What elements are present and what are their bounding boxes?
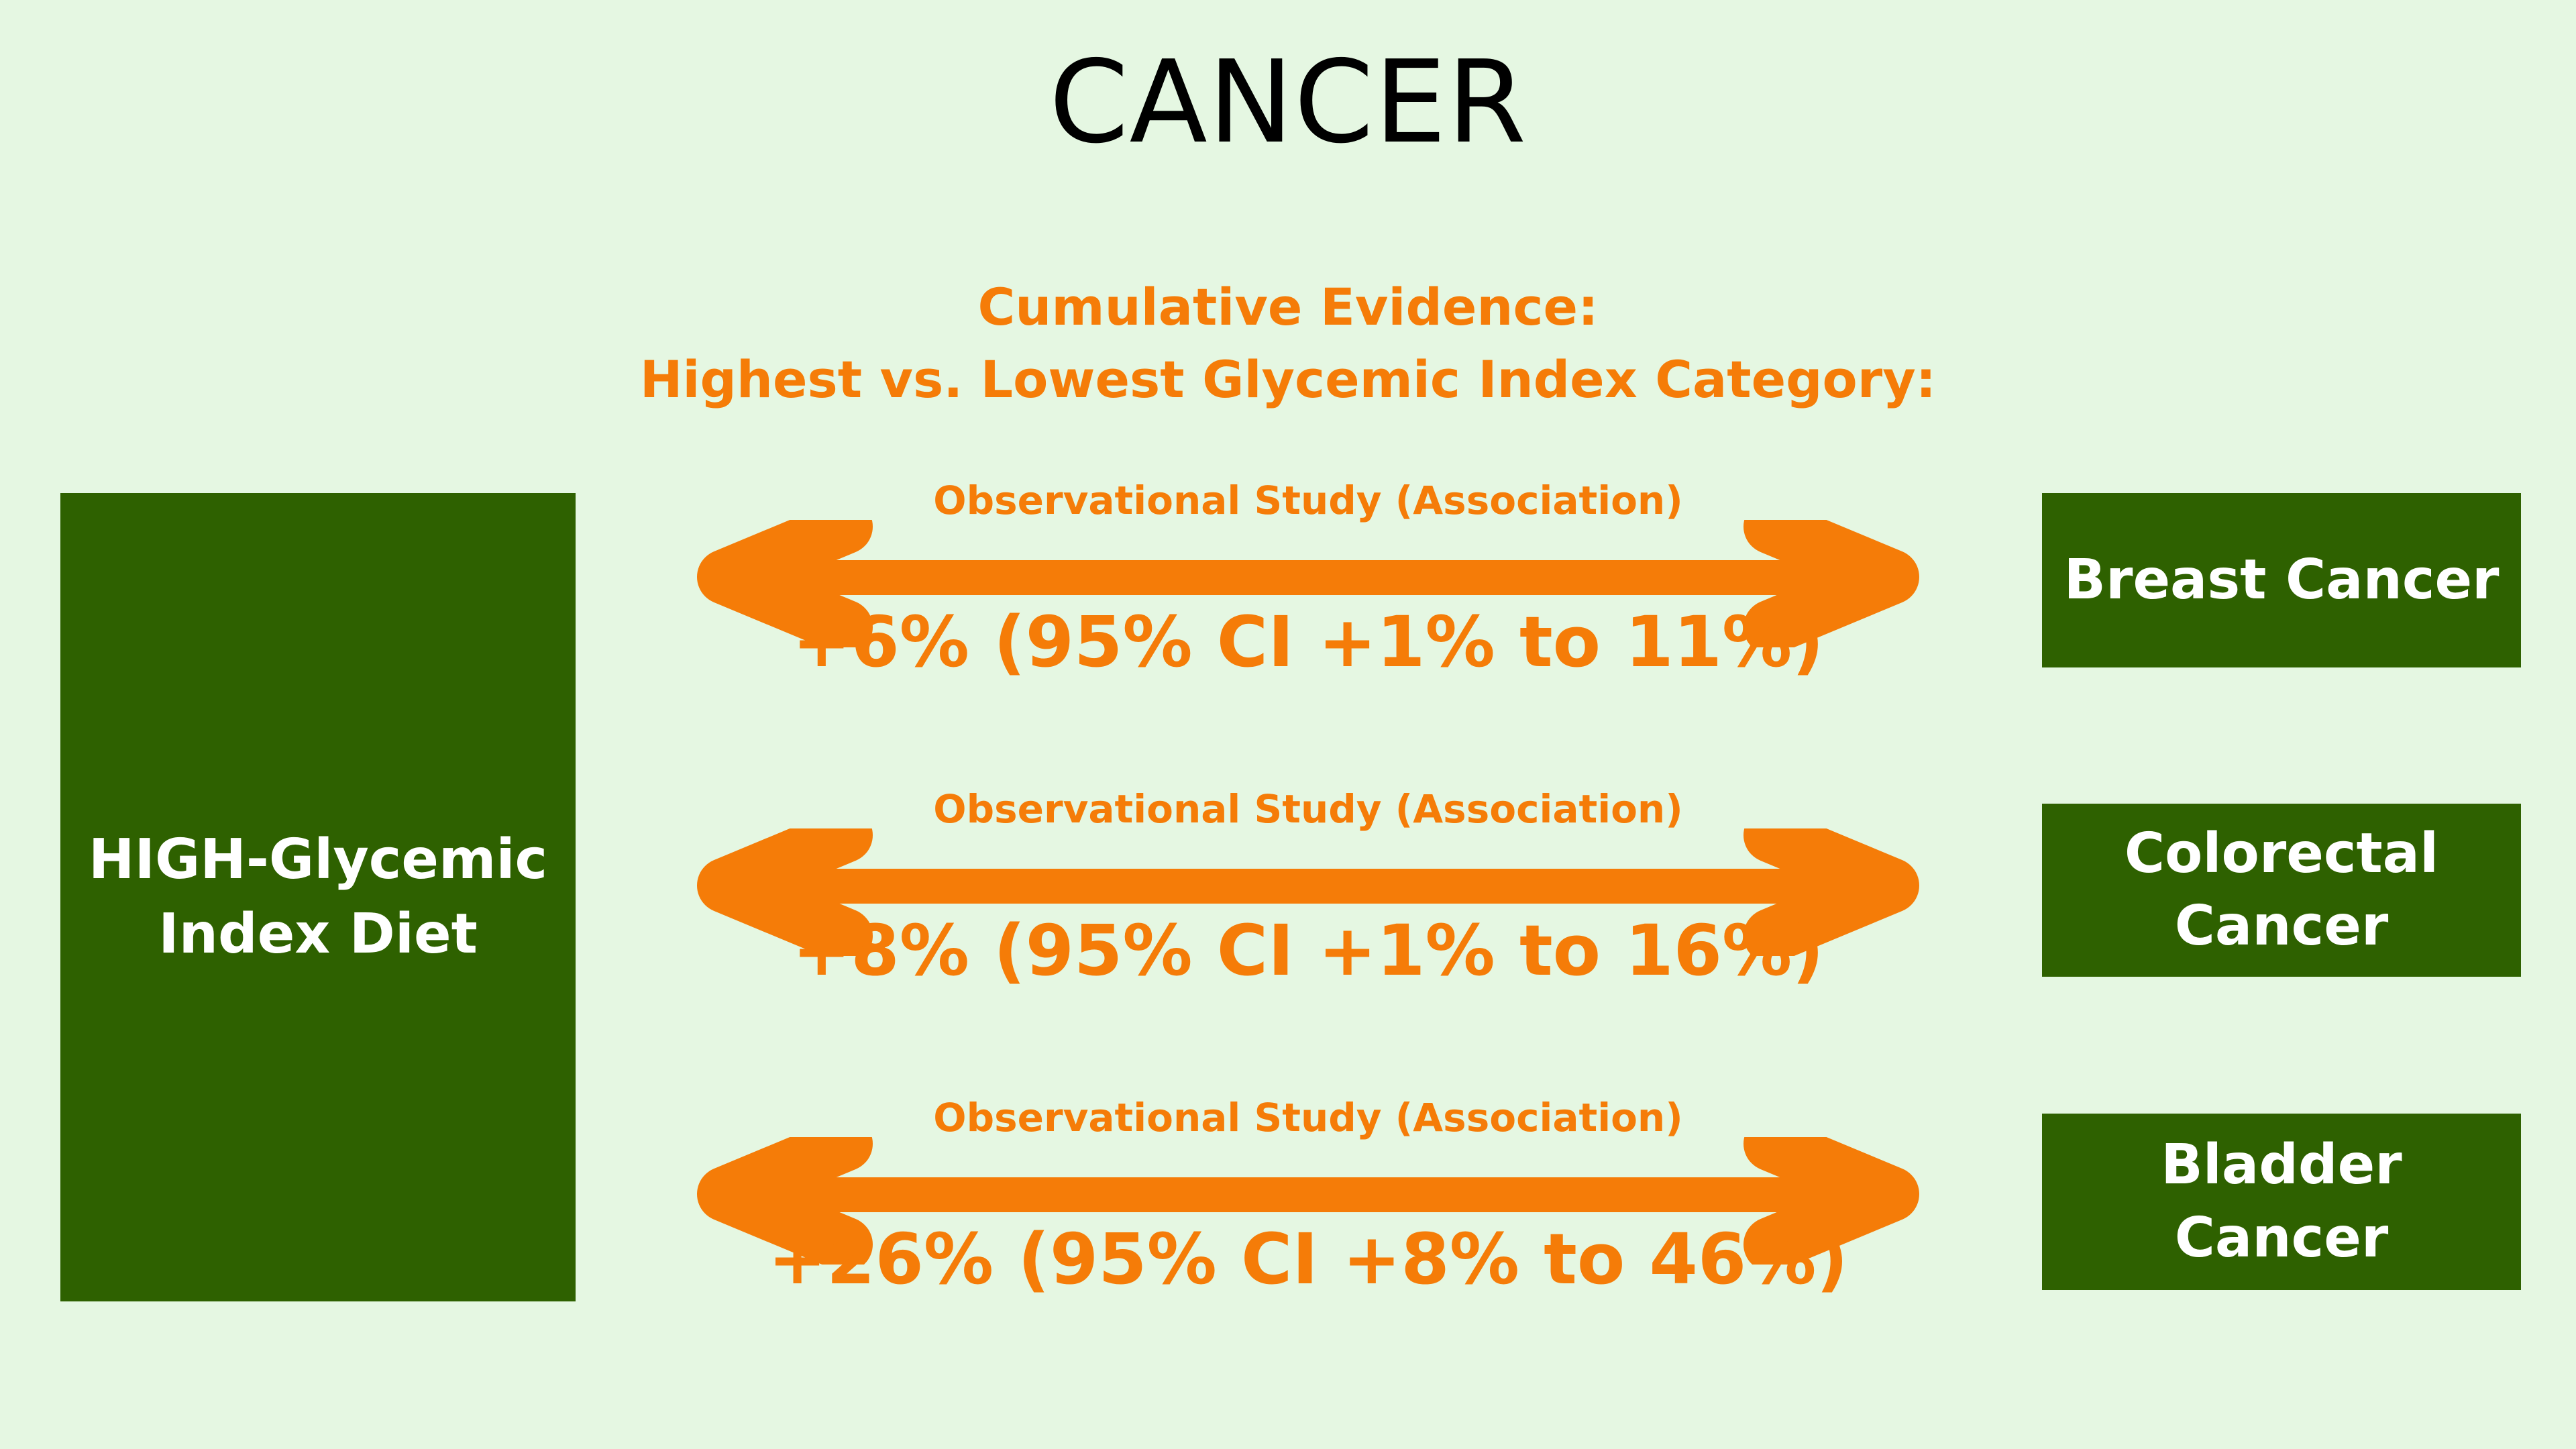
association-row-breast: Observational Study (Association) +6% (9… (644, 480, 1972, 681)
effect-estimate-label: +6% (95% CI +1% to 11%) (604, 604, 2012, 680)
study-type-label: Observational Study (Association) (644, 788, 1972, 831)
exposure-label-line-1: HIGH-Glycemic (89, 828, 547, 892)
page-title: CANCER (0, 42, 2576, 165)
outcome-label-line-1: Breast Cancer (2064, 548, 2500, 612)
association-row-colorectal: Observational Study (Association) +8% (9… (644, 788, 1972, 989)
outcome-box-bladder-cancer: Bladder Cancer (2042, 1114, 2521, 1290)
outcome-box-breast-cancer: Breast Cancer (2042, 493, 2521, 667)
association-row-bladder: Observational Study (Association) +26% (… (644, 1097, 1972, 1298)
study-type-label: Observational Study (Association) (644, 480, 1972, 523)
outcome-label-line-2: Cancer (2175, 1206, 2389, 1270)
study-type-label: Observational Study (Association) (644, 1097, 1972, 1140)
outcome-label-line-2: Cancer (2175, 894, 2389, 958)
outcome-box-label: Colorectal Cancer (2125, 818, 2438, 963)
subtitle-line-2: Highest vs. Lowest Glycemic Index Catego… (0, 343, 2576, 416)
effect-estimate-label: +8% (95% CI +1% to 16%) (604, 912, 2012, 989)
infographic-canvas: CANCER Cumulative Evidence: Highest vs. … (0, 0, 2576, 1449)
outcome-label-line-1: Bladder (2161, 1133, 2402, 1197)
effect-estimate-label: +26% (95% CI +8% to 46%) (604, 1221, 2012, 1297)
subtitle-line-1: Cumulative Evidence: (0, 271, 2576, 343)
exposure-label-line-2: Index Diet (158, 902, 478, 966)
outcome-box-colorectal-cancer: Colorectal Cancer (2042, 804, 2521, 977)
subtitle-block: Cumulative Evidence: Highest vs. Lowest … (0, 271, 2576, 416)
outcome-box-label: Breast Cancer (2064, 544, 2500, 616)
outcome-label-line-1: Colorectal (2125, 822, 2438, 885)
outcome-box-label: Bladder Cancer (2161, 1129, 2402, 1274)
exposure-box-label: HIGH-Glycemic Index Diet (89, 823, 547, 971)
exposure-box: HIGH-Glycemic Index Diet (60, 493, 576, 1301)
